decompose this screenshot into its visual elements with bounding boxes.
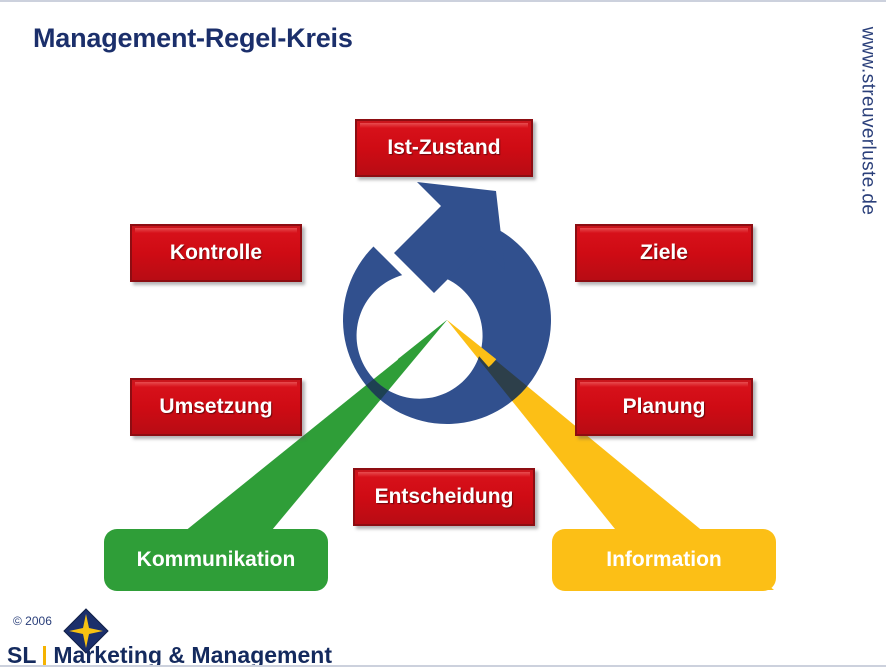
- node-umsetzung[interactable]: Umsetzung: [130, 378, 302, 436]
- node-ziele[interactable]: Ziele: [575, 224, 753, 282]
- node-kontrolle[interactable]: Kontrolle: [130, 224, 302, 282]
- footer-brand: SL Marketing & Management: [7, 642, 332, 667]
- node-information-label: Information: [606, 548, 722, 572]
- footer-brand-name: Marketing & Management: [53, 642, 332, 667]
- node-planung[interactable]: Planung: [575, 378, 753, 436]
- slide-canvas: Management-Regel-Kreis www.streuverluste…: [0, 0, 886, 667]
- footer-brand-prefix: SL: [7, 642, 36, 667]
- node-ist-zustand-label: Ist-Zustand: [387, 136, 500, 160]
- node-entscheidung-label: Entscheidung: [375, 485, 514, 509]
- footer-brand-separator: [43, 646, 46, 665]
- node-ist-zustand[interactable]: Ist-Zustand: [355, 119, 533, 177]
- node-kommunikation-label: Kommunikation: [137, 548, 296, 572]
- node-kontrolle-label: Kontrolle: [170, 241, 262, 265]
- copyright-text: © 2006: [13, 614, 52, 628]
- node-kommunikation[interactable]: Kommunikation: [104, 529, 328, 591]
- node-planung-label: Planung: [623, 395, 706, 419]
- node-information[interactable]: Information: [552, 529, 776, 591]
- node-umsetzung-label: Umsetzung: [159, 395, 272, 419]
- node-entscheidung[interactable]: Entscheidung: [353, 468, 535, 526]
- node-ziele-label: Ziele: [640, 241, 688, 265]
